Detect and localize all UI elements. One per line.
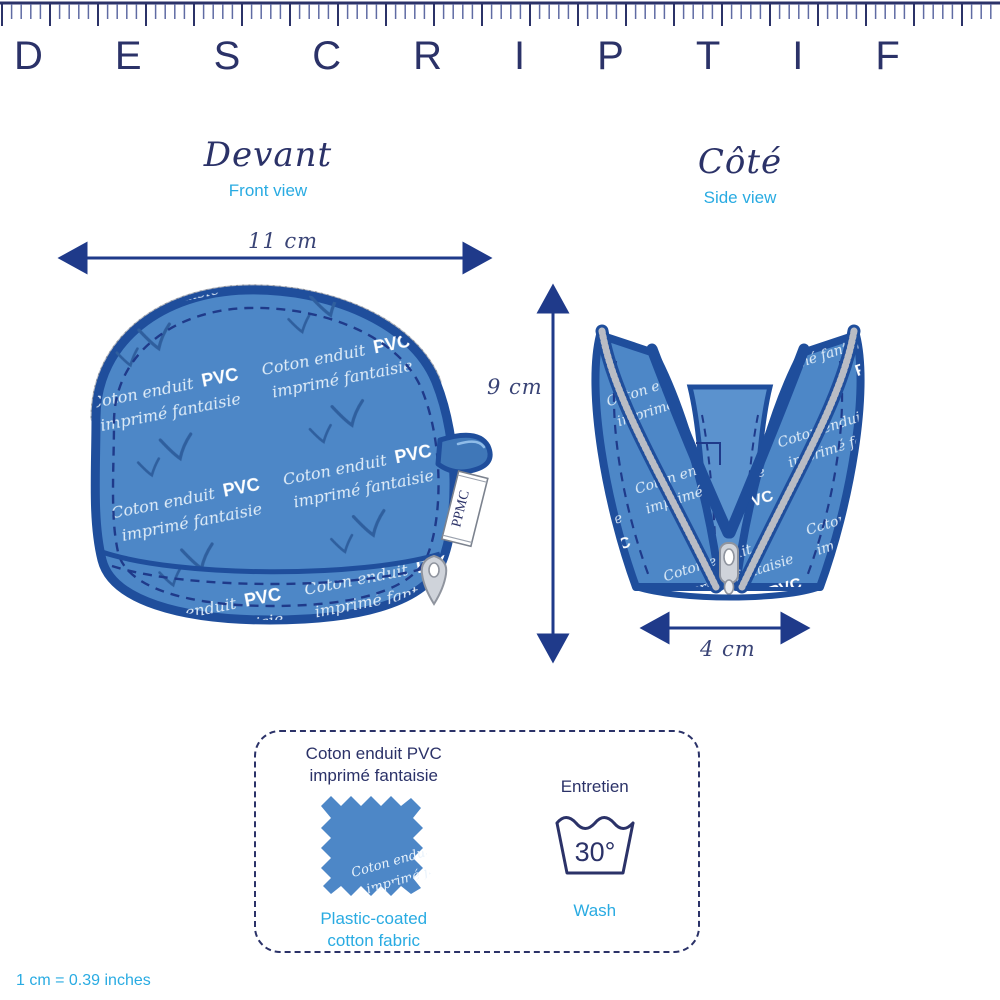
spec-sheet-page: DESCRIPTIF Devant Front view Côté Side v… bbox=[0, 0, 1000, 1000]
ruler-icon bbox=[0, 0, 1000, 30]
fabric-spec-block: Coton enduit PVC imprimé fantaisie Coton… bbox=[256, 732, 491, 951]
side-view-illustration: Coton enduit imprimé fantaisie PVC bbox=[570, 295, 890, 635]
page-title: DESCRIPTIF bbox=[0, 28, 1000, 84]
front-zipper-pull bbox=[422, 556, 447, 604]
wash-30-basin-icon: 30° bbox=[549, 811, 641, 886]
fabric-title-fr-line2: imprimé fantaisie bbox=[309, 766, 438, 785]
front-view-title-en: Front view bbox=[168, 181, 368, 201]
side-view-title-en: Side view bbox=[640, 188, 840, 208]
care-spec-block: Entretien 30° Wash bbox=[491, 732, 698, 951]
front-view-heading: Devant Front view bbox=[168, 138, 368, 201]
front-view-title-fr: Devant bbox=[168, 138, 368, 174]
wash-water-waves bbox=[557, 818, 633, 829]
care-title-fr: Entretien bbox=[561, 776, 629, 798]
fabric-title-fr: Coton enduit PVC imprimé fantaisie bbox=[306, 743, 442, 788]
fabric-title-fr-line1: Coton enduit PVC bbox=[306, 744, 442, 763]
side-view-heading: Côté Side view bbox=[640, 145, 840, 208]
front-grab-loop bbox=[438, 435, 490, 472]
wash-temperature-text: 30° bbox=[574, 837, 615, 867]
page-title-text: DESCRIPTIF bbox=[14, 34, 972, 79]
fabric-caption-en-line1: Plastic-coated bbox=[320, 909, 427, 928]
front-view-illustration: Coton enduit PVC imprimé fantaisie bbox=[60, 270, 540, 650]
care-caption-en: Wash bbox=[573, 900, 616, 922]
unit-conversion-note: 1 cm = 0.39 inches bbox=[16, 972, 151, 990]
side-view-title-fr: Côté bbox=[640, 145, 840, 181]
fabric-swatch-icon: Coton enduit imprimé fantaisie bbox=[311, 792, 437, 905]
fabric-caption-en: Plastic-coated cotton fabric bbox=[320, 908, 427, 953]
fabric-caption-en-line2: cotton fabric bbox=[327, 931, 420, 950]
spec-panel: Coton enduit PVC imprimé fantaisie Coton… bbox=[254, 730, 700, 953]
